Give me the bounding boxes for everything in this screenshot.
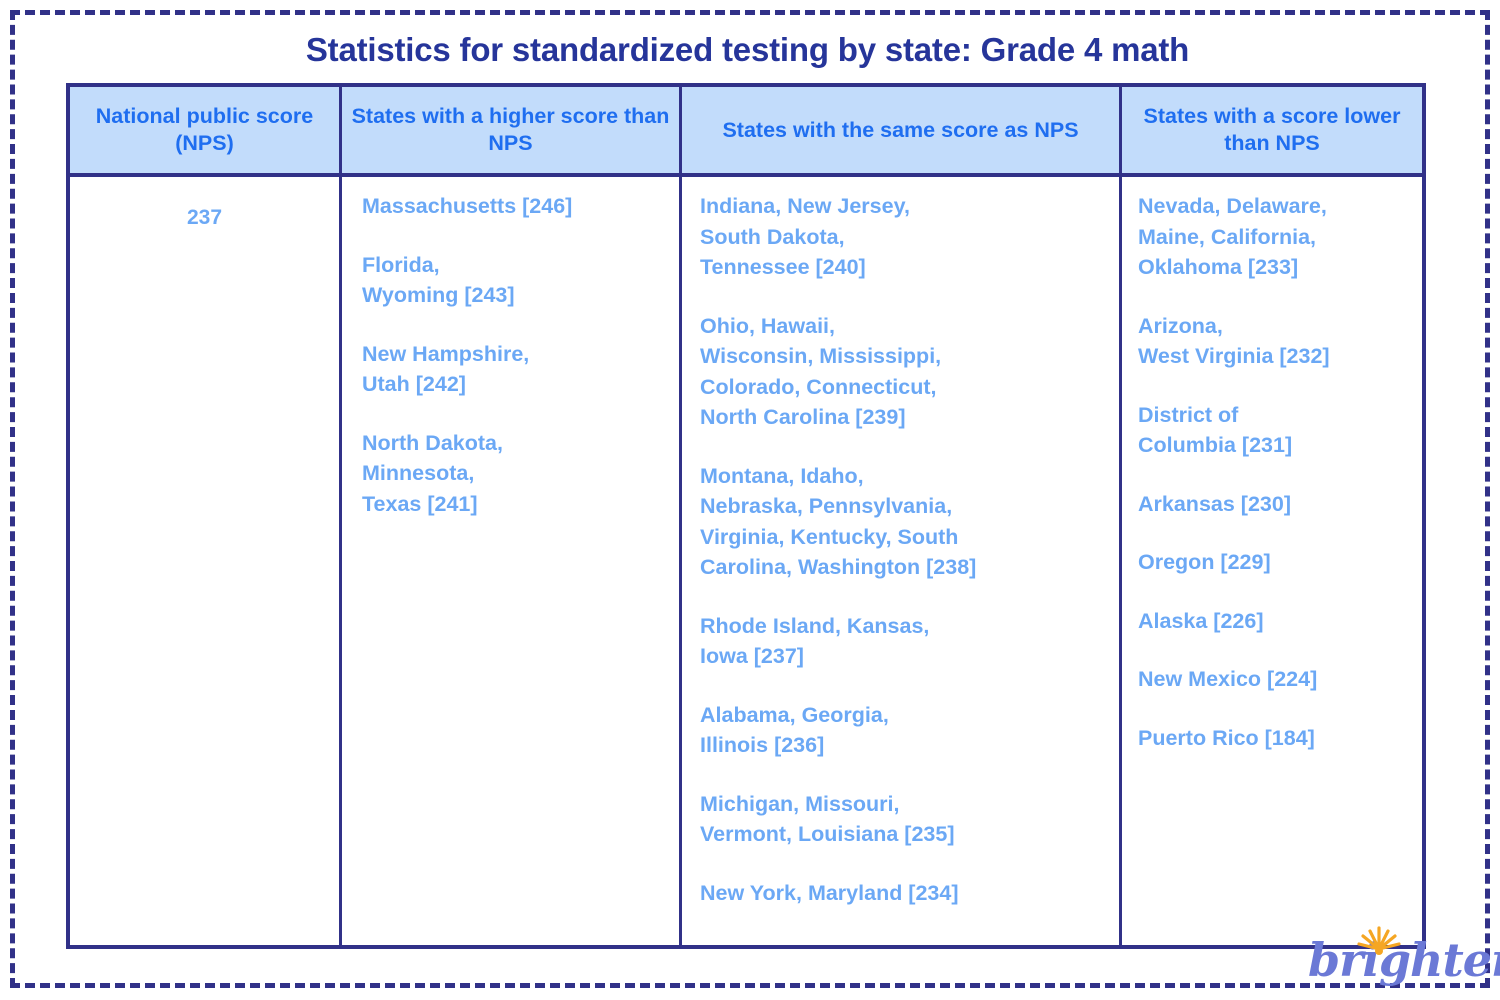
score-group: Nevada, Delaware, Maine, California, Okl… — [1138, 191, 1416, 283]
cell-nps: 237 — [70, 177, 342, 945]
sunburst-icon — [1356, 923, 1402, 957]
score-group: Montana, Idaho, Nebraska, Pennsylvania, … — [700, 461, 1113, 583]
column-header-lower-label: States with a score lower than NPS — [1122, 103, 1422, 157]
score-group: Massachusetts [246] — [362, 191, 671, 222]
cell-lower-scores: Nevada, Delaware, Maine, California, Okl… — [1122, 177, 1422, 945]
poster-canvas: Statistics for standardized testing by s… — [0, 0, 1500, 1000]
page-title: Statistics for standardized testing by s… — [65, 30, 1430, 70]
column-header-same-label: States with the same score as NPS — [722, 117, 1078, 144]
score-group: Alaska [226] — [1138, 606, 1416, 637]
score-group: Alabama, Georgia, Illinois [236] — [700, 700, 1113, 761]
score-group: Arkansas [230] — [1138, 489, 1416, 520]
score-group: Puerto Rico [184] — [1138, 723, 1416, 754]
column-header-higher: States with a higher score than NPS — [342, 87, 682, 173]
score-group: Florida, Wyoming [243] — [362, 250, 671, 311]
score-group: Rhode Island, Kansas, Iowa [237] — [700, 611, 1113, 672]
table-body-row: 237 Massachusetts [246] Florida, Wyoming… — [70, 177, 1422, 945]
brighterly-logo: brighterly — [1306, 925, 1496, 993]
column-header-nps-label: National public score (NPS) — [70, 103, 339, 157]
score-group: District of Columbia [231] — [1138, 400, 1416, 461]
column-header-same: States with the same score as NPS — [682, 87, 1122, 173]
score-group: New Hampshire, Utah [242] — [362, 339, 671, 400]
cell-same-scores: Indiana, New Jersey, South Dakota, Tenne… — [682, 177, 1122, 945]
statistics-table: National public score (NPS) States with … — [66, 83, 1426, 949]
cell-higher-scores: Massachusetts [246] Florida, Wyoming [24… — [342, 177, 682, 945]
score-group: Oregon [229] — [1138, 547, 1416, 578]
column-header-nps: National public score (NPS) — [70, 87, 342, 173]
score-group: Arizona, West Virginia [232] — [1138, 311, 1416, 372]
brighterly-wordmark: brighterly — [1308, 933, 1500, 987]
score-group: Indiana, New Jersey, South Dakota, Tenne… — [700, 191, 1113, 283]
score-group: Ohio, Hawaii, Wisconsin, Mississippi, Co… — [700, 311, 1113, 433]
column-header-lower: States with a score lower than NPS — [1122, 87, 1422, 173]
score-group: New York, Maryland [234] — [700, 878, 1113, 909]
score-group: North Dakota, Minnesota, Texas [241] — [362, 428, 671, 520]
table-header-row: National public score (NPS) States with … — [70, 87, 1422, 177]
score-group: New Mexico [224] — [1138, 664, 1416, 695]
column-header-higher-label: States with a higher score than NPS — [342, 103, 679, 157]
score-group: Michigan, Missouri, Vermont, Louisiana [… — [700, 789, 1113, 850]
nps-value: 237 — [70, 191, 339, 231]
